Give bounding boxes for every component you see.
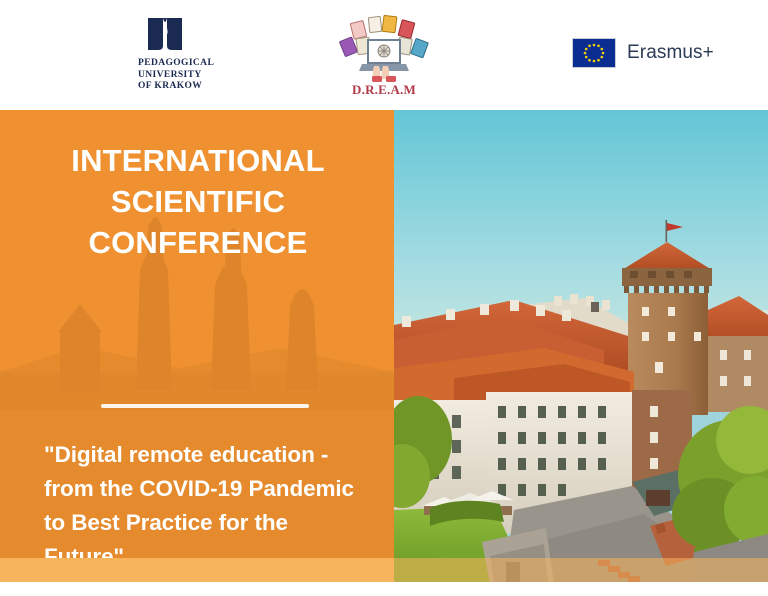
poster-body: INTERNATIONAL SCIENTIFIC CONFERENCE "Dig… [0,110,768,582]
panel-content: INTERNATIONAL SCIENTIFIC CONFERENCE "Dig… [0,110,394,582]
laptop-with-hands-and-books-icon [336,14,432,82]
logo-dream-project: D.R.E.A.M [336,14,432,106]
conference-poster: PEDAGOGICAL UNIVERSITY OF KRAKOW [0,0,768,596]
footer-band-left [0,558,394,582]
open-book-shield-icon [146,16,184,52]
logo-pedagogical-university: PEDAGOGICAL UNIVERSITY OF KRAKOW [128,16,240,88]
eu-flag-icon [572,38,616,68]
pu-logo-line-2: UNIVERSITY [138,70,240,82]
dream-logo-label: D.R.E.A.M [336,82,432,98]
footer-band-right [394,558,768,582]
footer-white-strip [0,582,768,596]
wawel-castle-photo [394,110,768,582]
orange-title-panel: INTERNATIONAL SCIENTIFIC CONFERENCE "Dig… [0,110,394,582]
erasmus-plus-label: Erasmus+ [627,42,714,64]
logo-erasmus-plus: Erasmus+ [572,38,714,68]
logo-bar: PEDAGOGICAL UNIVERSITY OF KRAKOW [0,0,768,110]
page-title: INTERNATIONAL SCIENTIFIC CONFERENCE [22,140,374,263]
title-divider [101,404,309,408]
pu-logo-line-3: OF KRAKOW [138,81,240,93]
pu-logo-line-1: PEDAGOGICAL [138,58,240,70]
conference-subtitle: "Digital remote education - from the COV… [44,438,364,574]
